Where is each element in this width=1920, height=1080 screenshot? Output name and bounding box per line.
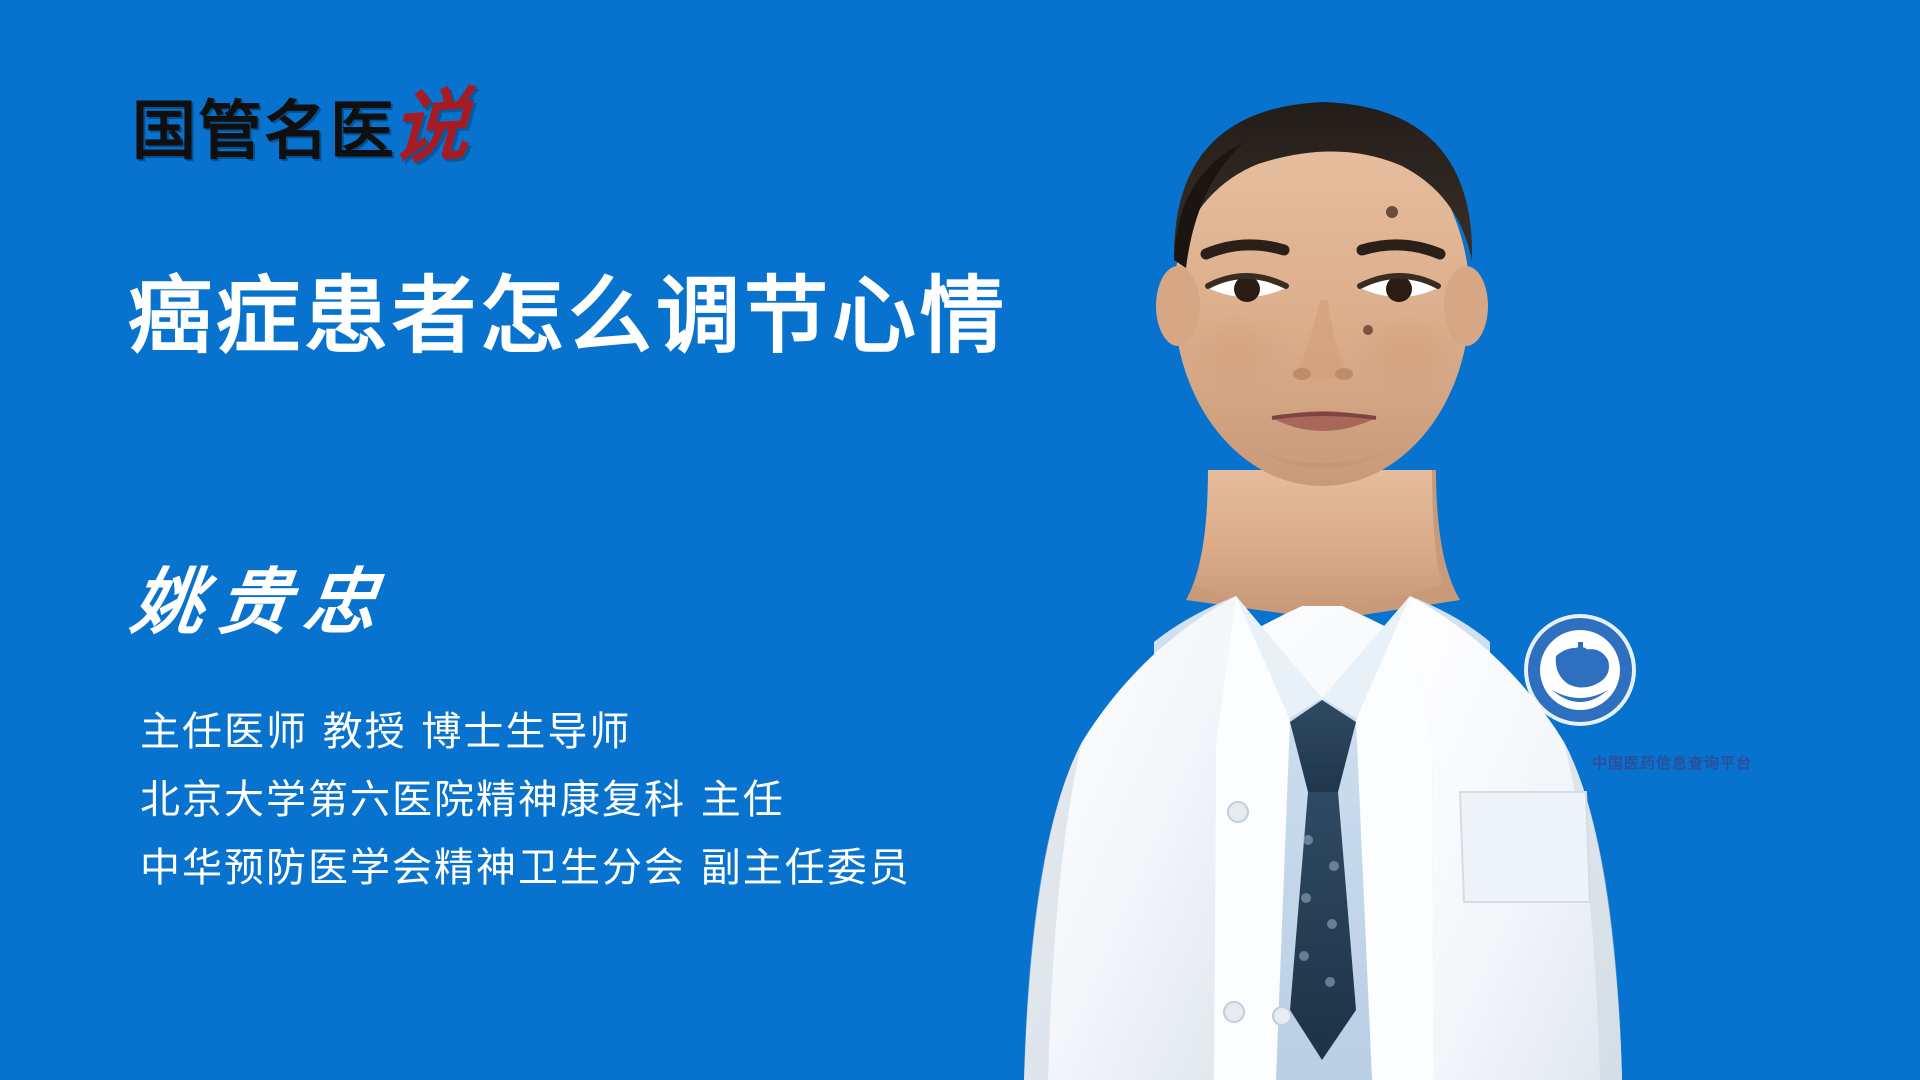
brand-logo: 国管名医 说 — [132, 92, 468, 164]
brand-logo-main-text: 国管名医 — [132, 100, 396, 164]
credential-line-3: 中华预防医学会精神卫生分会 副主任委员 — [140, 848, 911, 888]
brand-logo-accent-text: 说 — [390, 86, 471, 170]
episode-title: 癌症患者怎么调节心情 — [128, 268, 1008, 365]
slide-canvas: 中国医药信息查询平台 国管名医 说 癌症患者怎么调节心情 姚贵忠 主任医师 教授… — [0, 0, 1920, 1080]
badge-caption: 中国医药信息查询平台 — [1592, 752, 1752, 773]
speaker-portrait — [990, 0, 1920, 1080]
speaker-credentials: 主任医师 教授 博士生导师 北京大学第六医院精神康复科 主任 中华预防医学会精神… — [140, 712, 911, 888]
credential-line-2: 北京大学第六医院精神康复科 主任 — [140, 780, 911, 820]
speaker-name: 姚贵忠 — [128, 566, 395, 638]
credential-line-1: 主任医师 教授 博士生导师 — [140, 712, 911, 752]
